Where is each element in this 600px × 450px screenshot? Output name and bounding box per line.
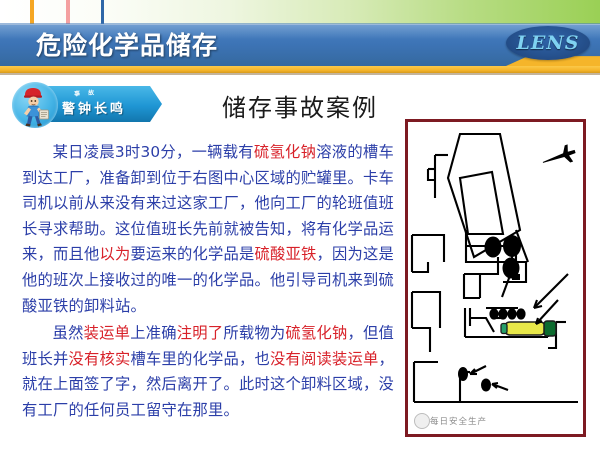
highlighted-text: 硫氢化钠 [285,324,347,342]
blob-marker-3 [512,274,520,280]
body-text-run: 槽车里的化学品，也 [131,350,271,368]
body-paragraph-1: 某日凌晨3时30分，一辆载有硫氢化钠溶液的槽车到达工厂，准备卸到位于右图中心区域… [22,140,394,319]
highlighted-text: 硫氢化钠 [254,143,316,161]
body-text-run: 虽然 [53,324,84,342]
badge-main-label: 警钟长鸣 [62,98,126,117]
body-paragraph-2: 虽然装运单上准确注明了所载物为硫氢化钠，但值班长并没有核实槽车里的化学品，也没有… [22,321,394,423]
tanker-truck [501,321,556,336]
section-title: 储存事故案例 [222,88,378,123]
blob-marker-1 [458,367,468,381]
highlighted-text: 硫酸亚铁 [254,245,316,263]
highlighted-text: 没有核实 [69,350,131,368]
plant-site-plan-figure: 每日安全生产 [405,119,586,437]
drum-row [489,308,525,319]
top-decoration-strip [0,0,600,24]
blob-marker-2 [481,379,491,392]
watermark-badge-icon [414,413,430,429]
body-text-run: 上准确 [130,324,177,342]
body-text-run: 要运来的化学品是 [131,245,255,263]
body-text-run: 某日凌晨3时30分，一辆载有 [53,143,254,161]
slide-root: 危险化学品储存 LENS 事 故 警钟长鸣 [0,0,600,450]
highlighted-text: 装运单 [84,324,131,342]
case-body-text: 某日凌晨3时30分，一辆载有硫氢化钠溶液的槽车到达工厂，准备卸到位于右图中心区域… [22,140,394,426]
highlighted-text: 注明了 [177,324,224,342]
lens-logo-text: LENS [506,26,590,60]
plant-site-plan-svg [408,122,583,434]
body-text-run: 所载物为 [223,324,285,342]
gold-divider-bar [0,66,600,73]
airplane-icon [540,143,578,171]
page-title: 危险化学品储存 [36,28,218,64]
worker-character-icon [12,82,58,128]
lens-logo: LENS [506,26,590,60]
worker-character-svg [12,82,58,128]
highlighted-text: 以为 [100,245,131,263]
badge-sub-label: 事 故 [74,87,98,98]
watermark-text: 每日安全生产 [430,415,487,427]
strip-tick-orange [30,0,34,24]
alert-badge: 事 故 警钟长鸣 [12,80,162,130]
strip-tick-pink [66,0,70,24]
strip-tick-blue [101,0,104,24]
highlighted-text: 没有阅读装运单 [270,350,379,368]
gold-divider-shadow [0,73,600,75]
